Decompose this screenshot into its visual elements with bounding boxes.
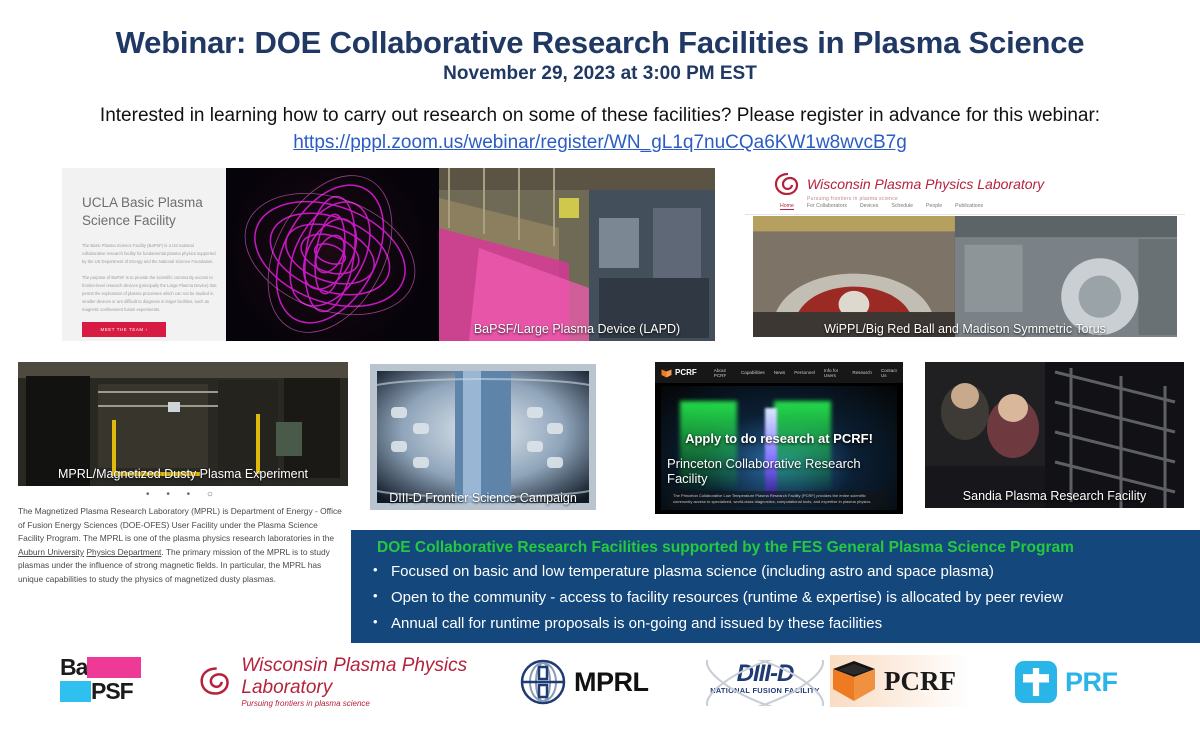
slide-header: Webinar: DOE Collaborative Research Faci… [0,0,1200,154]
bapsf-logo-line-1: Ba [60,654,87,681]
diiid-logo: DIII-D NATIONAL FUSION FACILITY [690,660,840,706]
mprl-logo: MPRL [520,658,670,706]
wippl-nav-item-people[interactable]: People [926,203,942,210]
bapsf-cyan-block [60,681,91,702]
diiid-atom-orbit-icon [690,660,840,706]
mprl-coil-icon [520,659,566,705]
pcrf-blurb: The Princeton Collaborative Low Temperat… [669,491,889,507]
wippl-nav-item-publications[interactable]: Publications [955,203,983,210]
sandia-facility-photo: Sandia Plasma Research Facility [925,362,1184,508]
pcrf-nav-item-personnel[interactable]: Personnel [794,370,815,375]
info-bullet-2: Open to the community - access to facili… [365,590,1186,616]
prf-logo: PRF [1015,658,1165,706]
pcrf-nav-item-contact[interactable]: Contact Us [881,368,897,378]
ucla-paragraph-2: The purpose of BaPSF is to provide the s… [82,274,218,314]
info-box: DOE Collaborative Research Facilities su… [351,530,1200,643]
pcrf-nav-item-news[interactable]: News [774,370,786,375]
page-title: Webinar: DOE Collaborative Research Faci… [0,26,1200,60]
plasma-swirl-graphic [226,168,439,341]
mprl-photo: MPRL/Magnetized Dusty Plasma Experiment [18,362,348,486]
diiid-graphic [377,371,589,503]
pcrf-logo-label: PCRF [675,368,697,377]
wippl-brand-name: Wisconsin Plasma Physics Laboratory [807,176,1044,192]
prf-square-icon [1015,661,1057,703]
lapd-machine-hall-photo: BaPSF/Large Plasma Device (LAPD) [439,168,715,341]
pcrf-facility-name: Princeton Collaborative Research Facilit… [667,456,897,486]
wisconsin-logo-tagline: Pursuing frontiers in plasma science [241,699,510,708]
info-bullet-3: Annual call for runtime proposals is on-… [365,616,1186,642]
intro-text: Interested in learning how to carry out … [0,105,1200,127]
registration-link[interactable]: https://pppl.zoom.us/webinar/register/WN… [0,132,1200,154]
caption-lapd: BaPSF/Large Plasma Device (LAPD) [439,319,715,341]
ucla-paragraph-1: The Basic Plasma Science Facility (BaPSF… [82,242,218,266]
pcrf-nav-item-about[interactable]: About PCRF [714,368,732,378]
mprl-description: The Magnetized Plasma Research Laborator… [18,505,345,587]
pcrf-nav-item-info-for-users[interactable]: Info for Users [824,368,843,378]
bapsf-logo: Ba PSF [60,655,175,705]
ucla-bapsf-website-screenshot: UCLA Basic Plasma Science Facility The B… [62,168,237,341]
diiid-photo-inner [377,371,589,503]
wisconsin-logo-name: Wisconsin Plasma Physics Laboratory [241,655,510,699]
caption-sandia: Sandia Plasma Research Facility [925,486,1184,508]
diiid-tokamak-photo: DIII-D Frontier Science Campaign [370,364,596,510]
caption-diiid: DIII-D Frontier Science Campaign [370,488,596,510]
wisconsin-logo: Wisconsin Plasma Physics Laboratory Purs… [200,660,510,702]
wisconsin-swirl-icon [200,664,233,698]
wippl-site-header: Wisconsin Plasma Physics Laboratory Purs… [745,168,1185,198]
lapd-photo-graphic [439,168,715,341]
pcrf-nav-item-research[interactable]: Research [852,370,872,375]
pcrf-nav-item-capabilities[interactable]: Capabilities [741,370,765,375]
wippl-nav-item-home[interactable]: Home [780,203,794,210]
pcrf-logo-bottom: PCRF [830,655,995,707]
caption-mprl: MPRL/Magnetized Dusty Plasma Experiment [18,464,348,486]
pcrf-hero-image: Apply to do research at PCRF! Princeton … [661,386,897,510]
pcrf-logo-bottom-label: PCRF [884,666,956,697]
webinar-datetime: November 29, 2023 at 3:00 PM EST [0,64,1200,85]
meet-the-team-button[interactable]: MEET THE TEAM › [82,322,166,337]
bapsf-magenta-block [87,657,141,678]
mprl-link-auburn-university[interactable]: Auburn University [18,547,84,557]
ucla-site-heading: UCLA Basic Plasma Science Facility [82,194,212,230]
info-box-bullet-list: Focused on basic and low temperature pla… [365,564,1186,641]
pcrf-website-screenshot: PCRF About PCRF Capabilities News Person… [655,362,903,514]
ucla-site-body: The Basic Plasma Science Facility (BaPSF… [82,242,218,314]
prf-logo-label: PRF [1065,667,1118,698]
wippl-swirl-logo-icon [775,173,801,195]
pcrf-apply-banner: Apply to do research at PCRF! [661,431,897,446]
plasma-filament-photo [226,168,439,341]
wippl-nav-item-devices[interactable]: Devices [860,203,878,210]
info-box-title: DOE Collaborative Research Facilities su… [365,539,1186,557]
mprl-description-part-1: The Magnetized Plasma Research Laborator… [18,506,342,543]
wippl-website-screenshot: Wisconsin Plasma Physics Laboratory Purs… [745,168,1185,341]
bapsf-logo-line-2: PSF [91,678,133,705]
mprl-link-physics-department[interactable]: Physics Department [86,547,161,557]
pcrf-open-box-icon [830,658,878,704]
pcrf-cube-icon [661,367,672,378]
wippl-nav-item-collaborators[interactable]: For Collaborators [807,203,847,210]
caption-wippl: WiPPL/Big Red Ball and Madison Symmetric… [745,319,1185,341]
mprl-carousel-dots[interactable]: • • • ○ [18,489,348,500]
pcrf-logo[interactable]: PCRF [661,367,697,378]
wippl-nav-item-schedule[interactable]: Schedule [891,203,913,210]
info-bullet-1: Focused on basic and low temperature pla… [365,564,1186,590]
mprl-logo-label: MPRL [574,667,649,698]
pcrf-nav[interactable]: PCRF About PCRF Capabilities News Person… [655,362,903,383]
